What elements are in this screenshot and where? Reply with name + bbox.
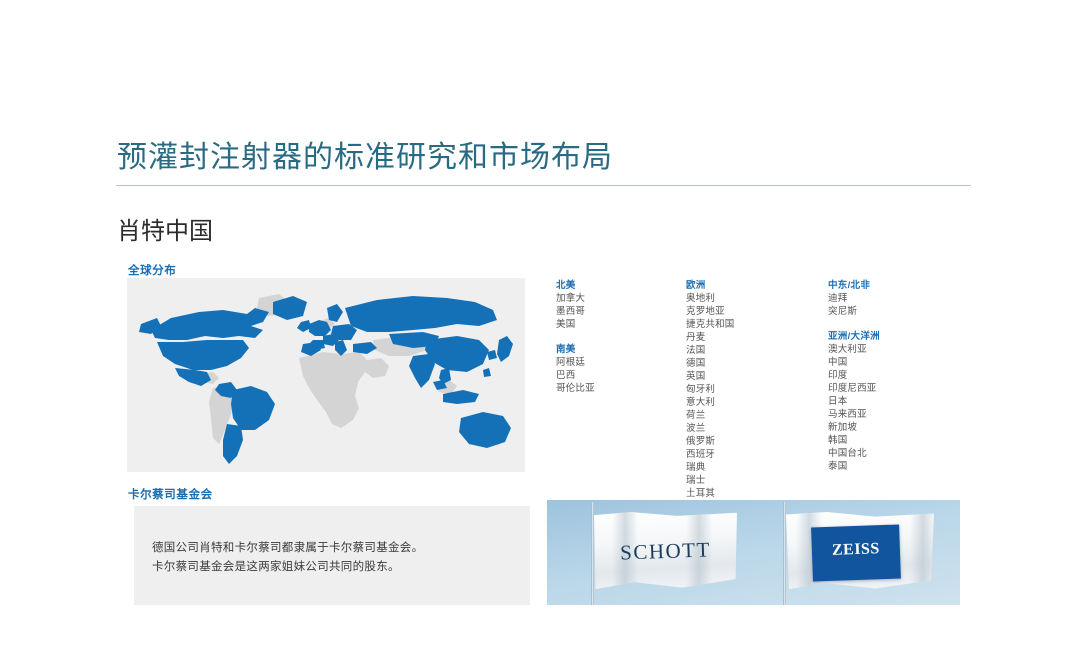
region-country: 迪拜 xyxy=(828,292,958,305)
region-title: 亚洲/大洋洲 xyxy=(828,330,958,343)
region-country: 瑞士 xyxy=(686,474,816,487)
region-country: 中国台北 xyxy=(828,447,958,460)
region-country: 韩国 xyxy=(828,434,958,447)
schott-flag-cloth: SCHOTT xyxy=(594,512,737,590)
region-title: 南美 xyxy=(556,343,686,356)
schott-wordmark: SCHOTT xyxy=(594,537,738,567)
region-country: 奥地利 xyxy=(686,292,816,305)
region-group-middle-east-north-africa: 中东/北非 迪拜 突尼斯 xyxy=(828,279,958,318)
region-column-europe: 欧洲 奥地利 克罗地亚 捷克共和国 丹麦 法国 德国 英国 匈牙利 意大利 荷兰… xyxy=(686,279,816,512)
region-country: 突尼斯 xyxy=(828,305,958,318)
region-country: 英国 xyxy=(686,370,816,383)
region-country: 泰国 xyxy=(828,460,958,473)
region-group-north-america: 北美 加拿大 墨西哥 美国 xyxy=(556,279,686,331)
foundation-line: 德国公司肖特和卡尔蔡司都隶属于卡尔蔡司基金会。 xyxy=(152,539,512,558)
region-country: 加拿大 xyxy=(556,292,686,305)
region-country: 丹麦 xyxy=(686,331,816,344)
zeiss-logo-plate: ZEISS xyxy=(811,524,901,581)
flagpole-icon xyxy=(783,502,786,605)
region-title: 中东/北非 xyxy=(828,279,958,292)
region-country: 墨西哥 xyxy=(556,305,686,318)
region-country: 澳大利亚 xyxy=(828,343,958,356)
foundation-line: 卡尔蔡司基金会是这两家姐妹公司共同的股东。 xyxy=(152,558,512,577)
slide: 预灌封注射器的标准研究和市场布局 肖特中国 全球分布 xyxy=(0,0,1080,666)
region-country: 法国 xyxy=(686,344,816,357)
region-country: 美国 xyxy=(556,318,686,331)
region-country: 哥伦比亚 xyxy=(556,382,686,395)
region-country: 瑞典 xyxy=(686,461,816,474)
region-group-south-america: 南美 阿根廷 巴西 哥伦比亚 xyxy=(556,343,686,395)
region-country: 阿根廷 xyxy=(556,356,686,369)
region-country: 德国 xyxy=(686,357,816,370)
zeiss-flag: ZEISS xyxy=(755,500,945,605)
schott-flag: SCHOTT xyxy=(557,500,747,605)
region-country: 俄罗斯 xyxy=(686,435,816,448)
zeiss-flag-cloth: ZEISS xyxy=(786,512,934,590)
region-country: 新加坡 xyxy=(828,421,958,434)
region-country: 日本 xyxy=(828,395,958,408)
page-subtitle: 肖特中国 xyxy=(117,216,213,248)
region-column-americas: 北美 加拿大 墨西哥 美国 南美 阿根廷 巴西 哥伦比亚 xyxy=(556,279,686,407)
region-country: 克罗地亚 xyxy=(686,305,816,318)
region-country: 中国 xyxy=(828,356,958,369)
brand-flags-photo: SCHOTT ZEISS xyxy=(547,500,960,605)
region-group-asia-oceania: 亚洲/大洋洲 澳大利亚 中国 印度 印度尼西亚 日本 马来西亚 新加坡 韩国 中… xyxy=(828,330,958,473)
region-country: 马来西亚 xyxy=(828,408,958,421)
region-country: 巴西 xyxy=(556,369,686,382)
region-country: 匈牙利 xyxy=(686,383,816,396)
flagpole-icon xyxy=(591,502,594,605)
title-divider xyxy=(116,185,971,186)
region-country: 土耳其 xyxy=(686,487,816,500)
section-heading-global-distribution: 全球分布 xyxy=(128,262,176,278)
cloth-fold xyxy=(910,512,936,590)
region-title: 欧洲 xyxy=(686,279,816,292)
world-map-panel xyxy=(127,278,525,472)
region-country: 捷克共和国 xyxy=(686,318,816,331)
region-country: 印度尼西亚 xyxy=(828,382,958,395)
region-country: 印度 xyxy=(828,369,958,382)
region-country: 意大利 xyxy=(686,396,816,409)
region-title: 北美 xyxy=(556,279,686,292)
section-heading-foundation: 卡尔蔡司基金会 xyxy=(128,486,213,502)
region-country: 西班牙 xyxy=(686,448,816,461)
foundation-description: 德国公司肖特和卡尔蔡司都隶属于卡尔蔡司基金会。 卡尔蔡司基金会是这两家姐妹公司共… xyxy=(152,539,512,577)
region-country-columns: 北美 加拿大 墨西哥 美国 南美 阿根廷 巴西 哥伦比亚 欧洲 奥地利 克罗地亚… xyxy=(556,279,976,489)
foundation-text-panel: 德国公司肖特和卡尔蔡司都隶属于卡尔蔡司基金会。 卡尔蔡司基金会是这两家姐妹公司共… xyxy=(134,506,530,605)
page-title: 预灌封注射器的标准研究和市场布局 xyxy=(117,138,613,178)
world-map-icon xyxy=(127,278,525,472)
region-country: 波兰 xyxy=(686,422,816,435)
region-column-mea-asia: 中东/北非 迪拜 突尼斯 亚洲/大洋洲 澳大利亚 中国 印度 印度尼西亚 日本 … xyxy=(828,279,958,485)
region-group-europe: 欧洲 奥地利 克罗地亚 捷克共和国 丹麦 法国 德国 英国 匈牙利 意大利 荷兰… xyxy=(686,279,816,500)
region-country: 荷兰 xyxy=(686,409,816,422)
zeiss-wordmark: ZEISS xyxy=(812,539,901,560)
